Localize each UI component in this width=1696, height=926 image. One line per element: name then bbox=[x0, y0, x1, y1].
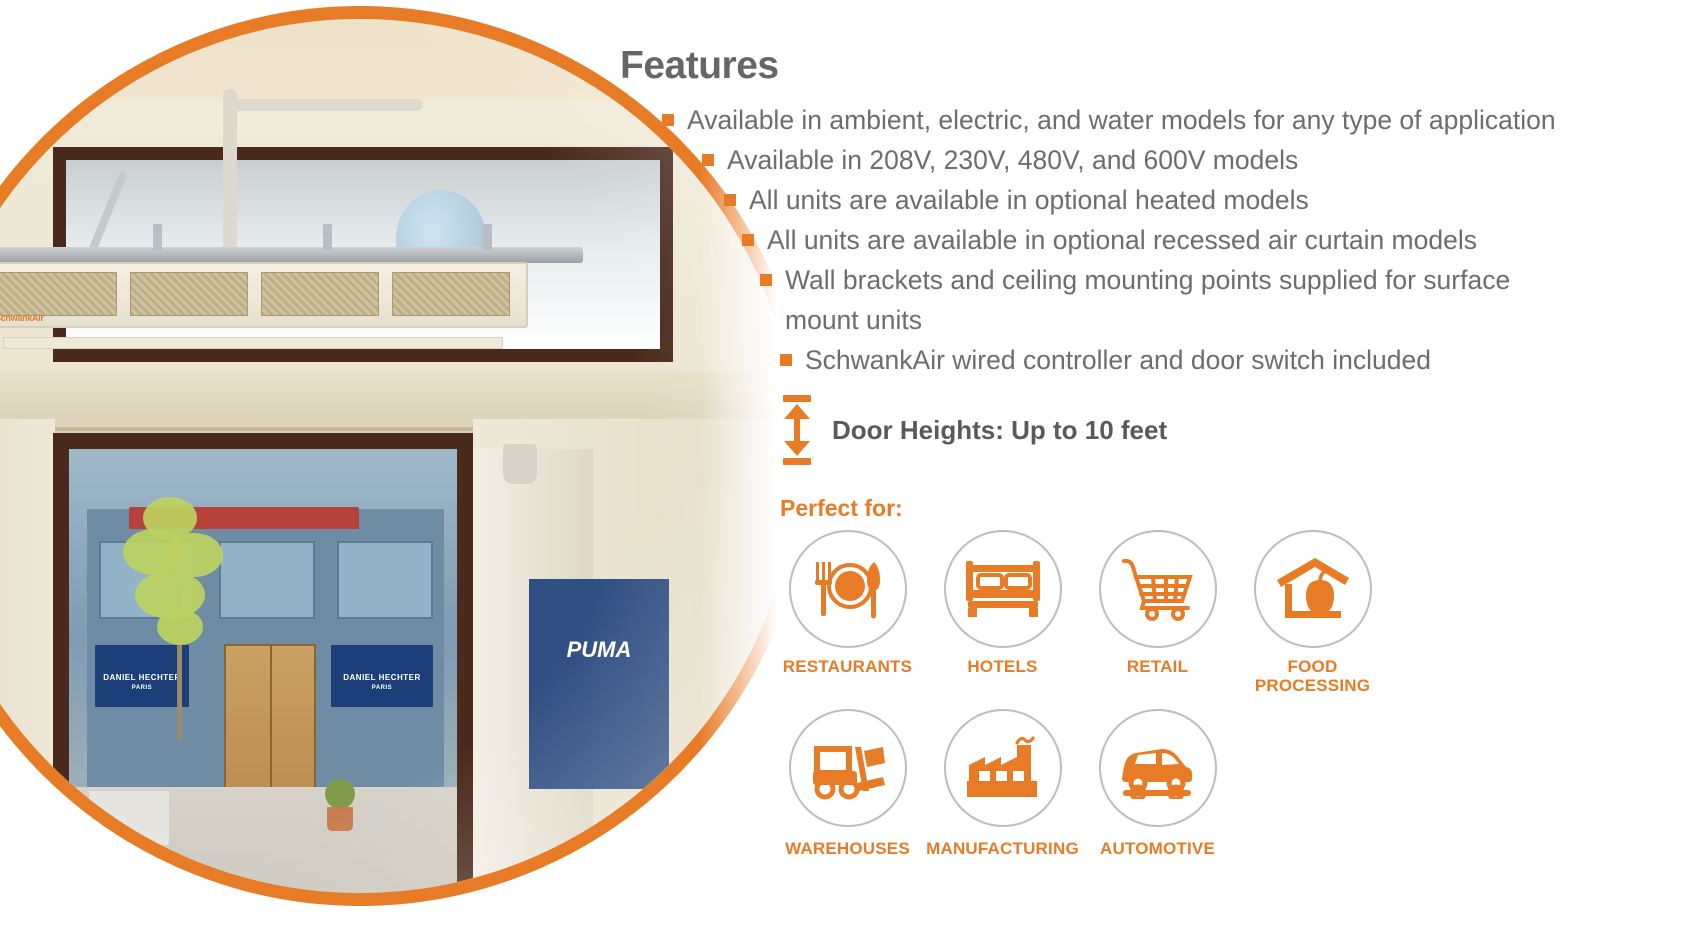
photo-rail-bracket bbox=[483, 224, 492, 250]
perfect-for-row-1: RESTAURANTS bbox=[770, 530, 1410, 695]
bullet-square-icon bbox=[662, 114, 674, 126]
photo-foliage bbox=[157, 609, 203, 645]
perfect-for-item-restaurants[interactable]: RESTAURANTS bbox=[770, 530, 925, 695]
shopping-cart-icon bbox=[1120, 556, 1196, 622]
bullet-square-icon bbox=[724, 194, 736, 206]
list-item-label: All units are available in optional rece… bbox=[767, 220, 1696, 260]
photo-pipe-vertical bbox=[223, 89, 237, 269]
photo-window bbox=[337, 541, 433, 619]
photo-flower-pot bbox=[327, 807, 353, 831]
photo-tree bbox=[119, 489, 239, 699]
perfect-for-item-food-processing[interactable]: FOOD PROCESSING bbox=[1235, 530, 1390, 695]
perfect-for-item-retail[interactable]: RETAIL bbox=[1080, 530, 1235, 695]
perfect-for-label: AUTOMOTIVE bbox=[1100, 839, 1215, 858]
photo-grille bbox=[0, 272, 117, 316]
list-item: SchwankAir wired controller and door swi… bbox=[780, 340, 1696, 380]
photo-left-wall bbox=[0, 419, 55, 893]
list-item-label: Available in ambient, electric, and wate… bbox=[687, 100, 1696, 140]
list-item: All units are available in optional heat… bbox=[724, 180, 1696, 220]
features-bullet-list: Available in ambient, electric, and wate… bbox=[620, 100, 1696, 380]
photo-bench bbox=[79, 881, 219, 891]
list-item-label: Wall brackets and ceiling mounting point… bbox=[785, 260, 1560, 340]
list-item: Wall brackets and ceiling mounting point… bbox=[760, 260, 1560, 340]
photo-grille bbox=[261, 272, 379, 316]
perfect-for-label: FOOD PROCESSING bbox=[1235, 657, 1390, 695]
food-processing-icon bbox=[1275, 556, 1351, 622]
perfect-for-label: RESTAURANTS bbox=[783, 657, 912, 676]
list-item-label: Available in 208V, 230V, 480V, and 600V … bbox=[727, 140, 1696, 180]
photo-diffuser bbox=[3, 337, 503, 349]
icon-badge bbox=[1099, 709, 1217, 827]
photo-storefront-sign-sub: PARIS bbox=[331, 685, 433, 691]
photo-rail-bracket bbox=[323, 224, 332, 250]
forklift-icon bbox=[809, 735, 887, 801]
bullet-square-icon bbox=[742, 234, 754, 246]
photo-bench-leg bbox=[103, 885, 111, 893]
icon-badge bbox=[1099, 530, 1217, 648]
photo-topiary bbox=[325, 779, 355, 809]
perfect-for-label: RETAIL bbox=[1127, 657, 1188, 676]
perfect-for-label: HOTELS bbox=[967, 657, 1037, 676]
list-item-label: All units are available in optional heat… bbox=[749, 180, 1696, 220]
perfect-for-item-automotive[interactable]: AUTOMOTIVE bbox=[1080, 709, 1235, 858]
car-lift-icon bbox=[1118, 737, 1198, 799]
perfect-for-item-warehouses[interactable]: WAREHOUSES bbox=[770, 709, 925, 858]
door-heights-row: Door Heights: Up to 10 feet bbox=[780, 395, 1167, 465]
photo-door-frame: DANIEL HECHTER PARIS DANIEL HECHTER PARI… bbox=[53, 433, 473, 893]
bullet-square-icon bbox=[702, 154, 714, 166]
arrow-head-up bbox=[784, 404, 810, 419]
icon-badge bbox=[944, 530, 1062, 648]
list-item: Available in 208V, 230V, 480V, and 600V … bbox=[702, 140, 1696, 180]
perfect-for-row-2: WAREHOUSES bbox=[770, 709, 1410, 858]
perfect-for-heading: Perfect for: bbox=[780, 495, 903, 522]
slide-canvas: SchwankAir PUMA DANIEL H bbox=[0, 0, 1696, 926]
photo-grille bbox=[392, 272, 510, 316]
photo-storefront-sign-text: DANIEL HECHTER bbox=[331, 673, 433, 682]
photo-ceiling-speaker bbox=[503, 444, 537, 484]
page-title: Features bbox=[620, 44, 779, 88]
arrow-cap-bottom bbox=[783, 458, 811, 465]
icon-badge bbox=[789, 530, 907, 648]
perfect-for-item-manufacturing[interactable]: MANUFACTURING bbox=[925, 709, 1080, 858]
bullet-square-icon bbox=[760, 274, 772, 286]
arrow-head-down bbox=[784, 441, 810, 456]
bed-icon bbox=[964, 559, 1042, 619]
perfect-for-label: WAREHOUSES bbox=[785, 839, 910, 858]
list-item: All units are available in optional rece… bbox=[742, 220, 1696, 260]
vertical-double-arrow-icon bbox=[780, 395, 814, 465]
icon-badge bbox=[789, 709, 907, 827]
photo-grille bbox=[130, 272, 248, 316]
door-heights-label: Door Heights: Up to 10 feet bbox=[832, 415, 1167, 446]
photo-pipe-horizontal bbox=[223, 99, 423, 111]
photo-planter bbox=[89, 791, 169, 845]
photo-storefront-sign: DANIEL HECHTER PARIS bbox=[331, 645, 433, 707]
photo-rail-bracket bbox=[153, 224, 162, 250]
photo-product-label: SchwankAir bbox=[0, 313, 44, 323]
perfect-for-label: MANUFACTURING bbox=[926, 839, 1079, 858]
photo-exterior-view: DANIEL HECHTER PARIS DANIEL HECHTER PARI… bbox=[69, 449, 457, 893]
icon-badge bbox=[1254, 530, 1372, 648]
photo-air-curtain-unit: SchwankAir bbox=[0, 262, 528, 328]
icon-badge bbox=[944, 709, 1062, 827]
list-item: Available in ambient, electric, and wate… bbox=[662, 100, 1696, 140]
perfect-for-item-hotels[interactable]: HOTELS bbox=[925, 530, 1080, 695]
perfect-for-grid: RESTAURANTS bbox=[770, 530, 1410, 858]
bullet-square-icon bbox=[780, 354, 792, 366]
factory-icon bbox=[965, 735, 1041, 801]
photo-mounting-rail bbox=[0, 247, 583, 263]
features-panel: Features Available in ambient, electric,… bbox=[620, 0, 1696, 926]
arrow-cap-top bbox=[783, 395, 811, 402]
list-item-label: SchwankAir wired controller and door swi… bbox=[805, 340, 1696, 380]
restaurant-icon bbox=[810, 556, 886, 622]
